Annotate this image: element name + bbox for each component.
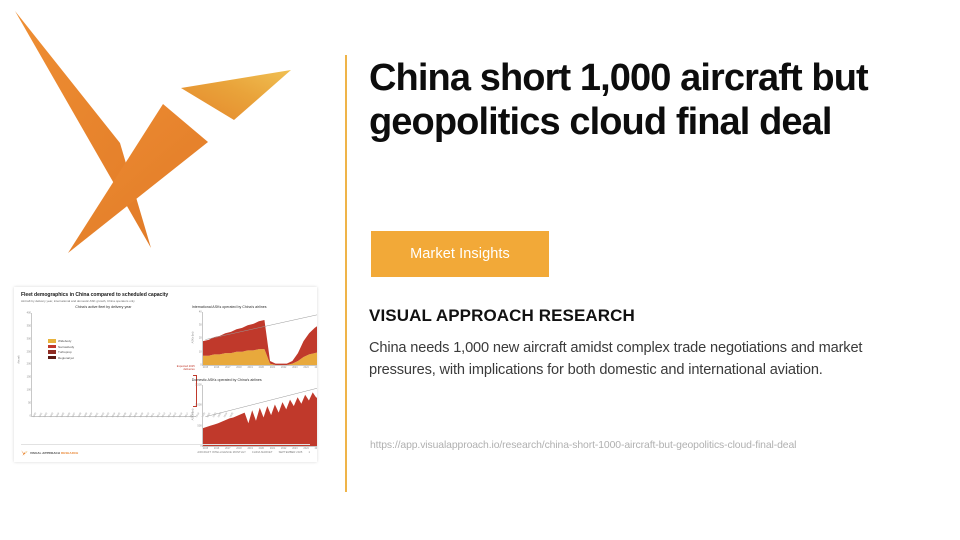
legend-item: Turboprop (48, 350, 74, 354)
article-url-link[interactable]: https://app.visualapproach.io/research/c… (370, 440, 796, 451)
thumbnail-charts: China's active fleet by delivery year Ai… (21, 306, 310, 445)
legend-item: Widebody (48, 339, 74, 343)
right-panel: China short 1,000 aircraft but geopoliti… (369, 0, 944, 540)
international-plot-area: 010203040 201520162017201820192020202120… (202, 312, 317, 366)
x-tick-label: 2020 (259, 366, 264, 369)
domestic-plot-area: 05001,0001,500 2015201620172018201920202… (202, 385, 317, 447)
report-thumbnail-card[interactable]: Fleet demographics in China compared to … (14, 287, 317, 462)
y-tick-label: 30 (199, 324, 202, 327)
footer-meta-group: AIRCRAFT INTELLIGENCE MONTHLY CHINA MARK… (197, 451, 310, 454)
chart-title-fleet: China's active fleet by delivery year (21, 306, 186, 310)
category-badge-market-insights[interactable]: Market Insights (371, 231, 549, 277)
fleet-legend: WidebodyNarrowbodyTurbopropRegional jet (48, 339, 74, 361)
legend-label: Narrowbody (58, 345, 74, 349)
international-y-axis: 010203040 (194, 312, 202, 365)
area-series (203, 390, 317, 446)
footer-meta-right: SEPTEMBER 2025 (279, 451, 303, 454)
y-tick-label: 100 (27, 389, 31, 392)
footer-brand: VISUAL APPROACH RESEARCH (21, 450, 78, 456)
vertical-divider (345, 55, 347, 492)
y-tick-label: 400 (27, 311, 31, 314)
fleet-annotation: Expected 2025 deliveries (165, 365, 195, 371)
y-tick-label: 500 (197, 424, 201, 427)
y-tick-label: 250 (27, 350, 31, 353)
y-tick-label: 200 (27, 363, 31, 366)
x-tick-label: 2025 (315, 447, 317, 450)
y-tick-label: 1,000 (195, 404, 202, 407)
x-tick-label: 2024 (303, 366, 308, 369)
fleet-y-axis: 050100150200250300350400 (23, 313, 31, 416)
chart-international-ask: International ASKs operated by China's a… (192, 306, 310, 366)
x-tick-label: 2023 (292, 366, 297, 369)
domestic-area-svg (203, 385, 317, 446)
y-tick-label: 150 (27, 376, 31, 379)
y-tick-label: 10 (199, 350, 202, 353)
footer-brand-text: VISUAL APPROACH RESEARCH (30, 451, 78, 455)
footer-meta-left: AIRCRAFT INTELLIGENCE MONTHLY (197, 451, 246, 454)
x-tick-label: 2018 (236, 366, 241, 369)
y-tick-label: 350 (27, 324, 31, 327)
thumbnail-title: Fleet demographics in China compared to … (21, 293, 310, 299)
x-tick-label: 2021 (270, 366, 275, 369)
y-tick-label: 40 (199, 310, 202, 313)
fleet-x-axis: 1990199119921993199419951996199719981999… (33, 416, 195, 430)
legend-item: Regional jet (48, 356, 74, 360)
footer-page-number: 1 (308, 451, 310, 454)
legend-label: Turboprop (58, 350, 72, 354)
chart-domestic-ask: Domestic ASKs operated by China's airlin… (192, 379, 310, 447)
footer-bird-icon (21, 450, 28, 456)
y-tick-label: 0 (200, 363, 201, 366)
x-tick-label: 2022 (281, 366, 286, 369)
y-tick-label: 1,500 (195, 383, 202, 386)
chart-title-domestic: Domestic ASKs operated by China's airlin… (192, 379, 310, 383)
chart-title-international: International ASKs operated by China's a… (192, 306, 310, 310)
y-tick-label: 0 (30, 414, 31, 417)
origami-bird-logo-icon (8, 8, 308, 263)
footer-meta-accent: CHINA MARKET (252, 451, 273, 454)
y-tick-label: 50 (28, 402, 31, 405)
x-tick-label: 2025 (315, 366, 317, 369)
international-x-axis: 2015201620172018201920202021202220232024… (203, 365, 317, 369)
legend-swatch (48, 339, 56, 342)
y-tick-label: 20 (199, 337, 202, 340)
publisher-name: VISUAL APPROACH RESEARCH (369, 306, 635, 326)
footer-brand-primary: VISUAL APPROACH (30, 451, 60, 455)
x-tick-label: 2019 (247, 366, 252, 369)
thumbnail-content: Fleet demographics in China compared to … (14, 287, 317, 462)
chart-column-right: International ASKs operated by China's a… (192, 306, 310, 445)
left-panel: Fleet demographics in China compared to … (0, 0, 345, 540)
legend-label: Widebody (58, 339, 71, 343)
fleet-plot-area: 050100150200250300350400 WidebodyNarrowb… (31, 313, 196, 417)
x-tick-label: 2016 (214, 366, 219, 369)
thumbnail-subtitle: Aircraft by delivery year, international… (21, 300, 310, 304)
page-title: China short 1,000 aircraft but geopoliti… (369, 56, 914, 145)
footer-brand-accent: RESEARCH (61, 451, 78, 455)
legend-swatch (48, 356, 56, 359)
legend-label: Regional jet (58, 356, 74, 360)
legend-item: Narrowbody (48, 345, 74, 349)
international-area-svg (203, 312, 317, 365)
article-description: China needs 1,000 new aircraft amidst co… (369, 338, 914, 382)
x-tick-label: 2017 (225, 366, 230, 369)
y-tick-label: 300 (27, 337, 31, 340)
thumbnail-footer: VISUAL APPROACH RESEARCH AIRCRAFT INTELL… (21, 444, 310, 458)
chart-ylabel-fleet: Aircraft (18, 355, 21, 363)
legend-swatch (48, 350, 56, 353)
x-tick-label: 2015 (203, 366, 208, 369)
chart-fleet-by-delivery-year: China's active fleet by delivery year Ai… (21, 306, 186, 445)
domestic-y-axis: 05001,0001,500 (194, 385, 202, 446)
legend-swatch (48, 345, 56, 348)
